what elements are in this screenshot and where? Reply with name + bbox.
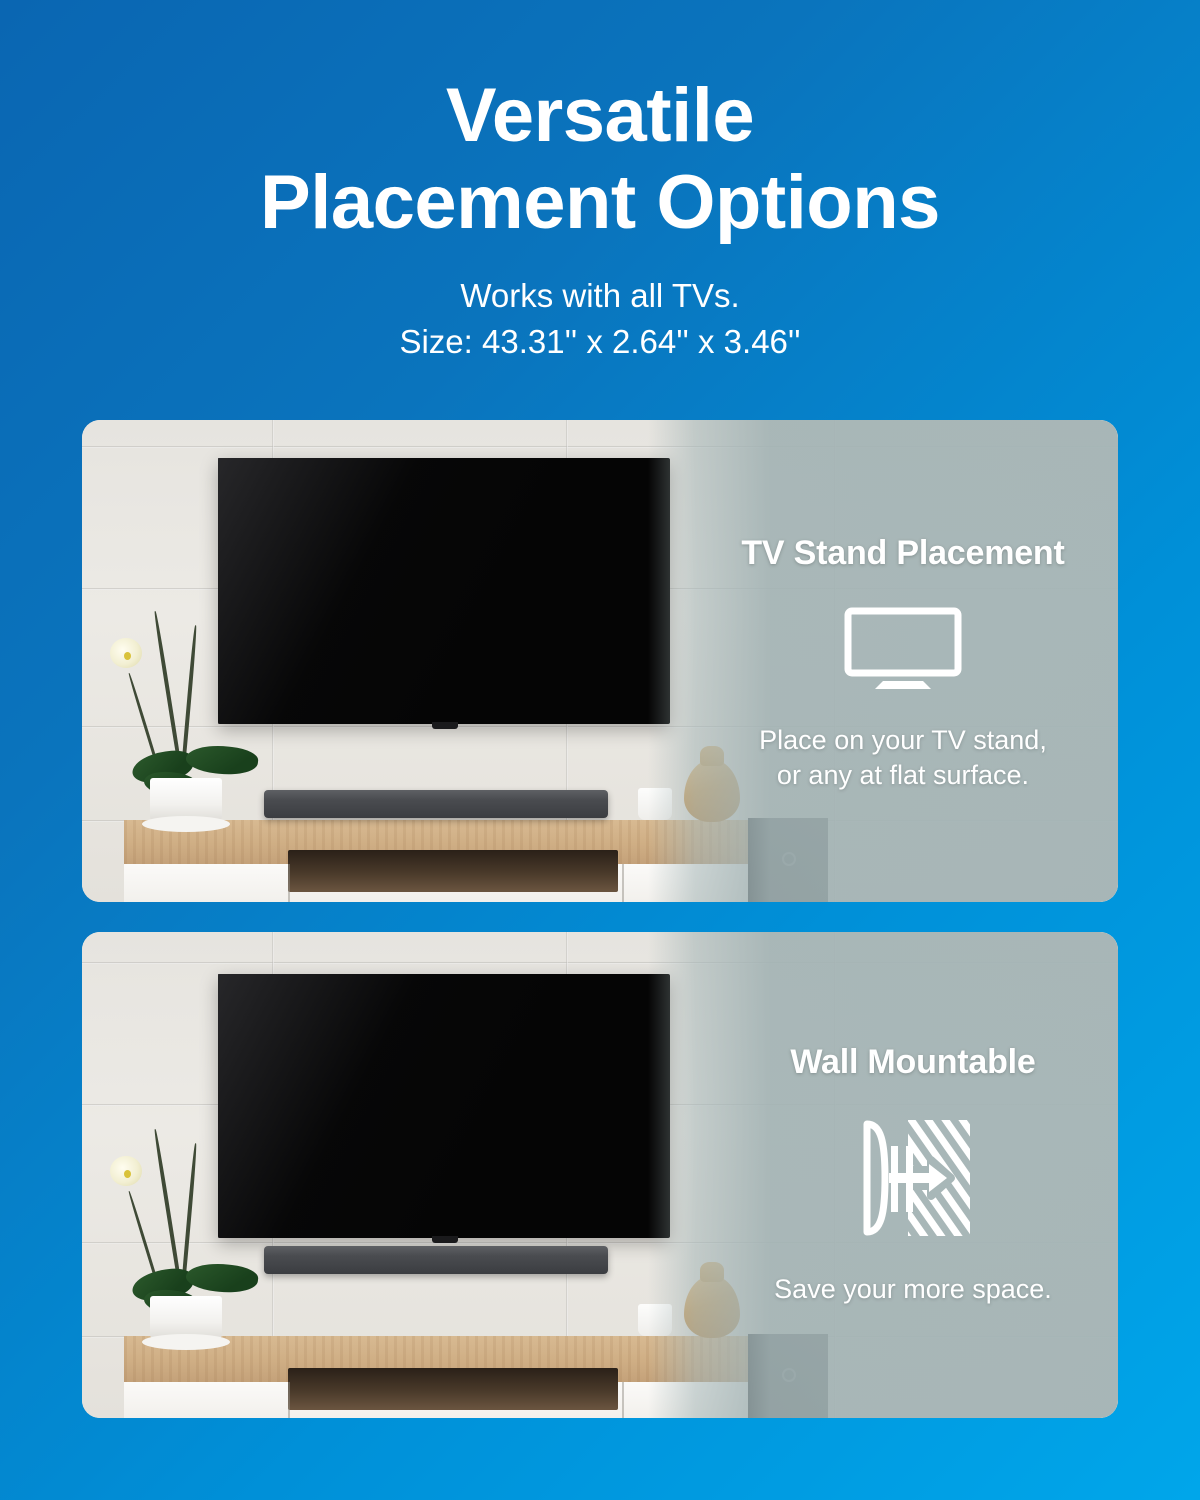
panel-description-line-1: Place on your TV stand, [759,723,1047,758]
soundbar-wall-mounted [264,1246,608,1274]
tv-stand-seam [288,864,290,902]
product-feature-page: Versatile Placement Options Works with a… [0,0,1200,1500]
panel-description: Place on your TV stand, or any at flat s… [759,723,1047,792]
panel-description-line-1: Save your more space. [774,1272,1052,1307]
television [218,458,670,724]
page-title-line-1: Versatile [0,72,1200,159]
orchid-bloom-center [124,1170,131,1178]
soundbar-on-stand [264,790,608,818]
page-title: Versatile Placement Options [0,72,1200,247]
subtitle-dimensions: Size: 43.31'' x 2.64'' x 3.46'' [0,319,1200,365]
panel-info-tv-stand: TV Stand Placement Place on your TV stan… [688,420,1118,902]
television-foot [432,1236,458,1243]
panel-description: Save your more space. [774,1272,1052,1307]
wall-mount-icon [853,1116,973,1240]
tv-stand-seam [622,864,624,902]
television-foot [432,722,458,729]
panel-title: TV Stand Placement [741,534,1064,573]
tv-stand-niche [288,1368,618,1410]
television [218,974,670,1238]
plant-saucer [142,816,230,832]
header: Versatile Placement Options Works with a… [0,72,1200,365]
panel-title: Wall Mountable [790,1043,1035,1082]
panel-info-wall-mountable: Wall Mountable [708,932,1118,1418]
tv-monitor-icon [843,607,963,691]
plant-saucer [142,1334,230,1350]
feature-panel-tv-stand-placement: TV Stand Placement Place on your TV stan… [82,420,1118,902]
tv-stand-niche [288,850,618,892]
tv-stand-seam [622,1382,624,1418]
subtitle-compatibility: Works with all TVs. [0,273,1200,319]
panel-description-line-2: or any at flat surface. [759,758,1047,793]
page-subtitle: Works with all TVs. Size: 43.31'' x 2.64… [0,273,1200,365]
orchid-bloom-center [124,652,131,660]
tv-stand-seam [288,1382,290,1418]
feature-panel-wall-mountable: Wall Mountable [82,932,1118,1418]
page-title-line-2: Placement Options [0,159,1200,246]
